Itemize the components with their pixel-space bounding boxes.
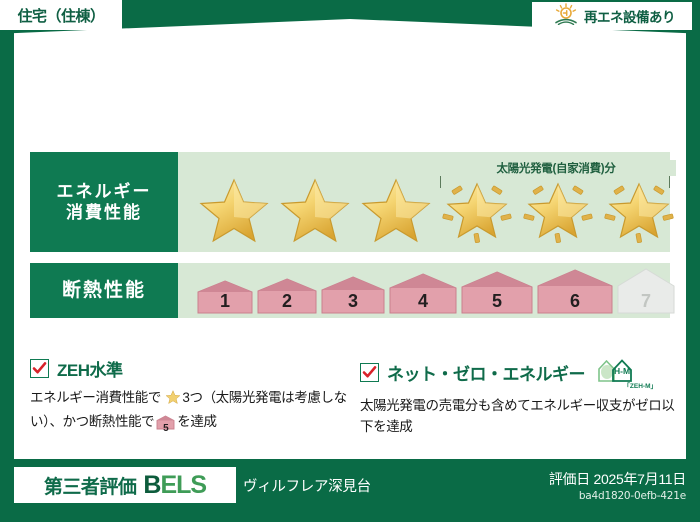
- renewable-equipment-tag: 再エネ設備あり: [532, 2, 692, 30]
- insulation-level-badge: 5: [460, 270, 534, 315]
- insulation-level-number: 4: [388, 291, 458, 312]
- criterion-nze-header: ネット・ゼロ・エネルギー H-M 「ZEH-M」: [360, 356, 680, 389]
- insulation-level-number: 5: [460, 291, 534, 312]
- energy-rating-body: 太陽光発電(自家消費)分: [178, 152, 670, 252]
- building-type-tag: 住宅（住棟）: [0, 0, 122, 30]
- criterion-zeh-description: エネルギー消費性能で 3つ（太陽光発電は考慮しない）、かつ断熱性能で 5 を達成: [30, 388, 350, 437]
- bels-letter-b: B: [143, 471, 160, 499]
- insulation-level-number: 2: [256, 291, 318, 312]
- star-icon: [162, 393, 181, 408]
- third-party-eval-label: 第三者評価: [44, 472, 137, 499]
- sun-solar-icon: [553, 3, 579, 30]
- energy-label-line2: 消費性能: [66, 202, 142, 223]
- solar-bracket-caption: 太陽光発電(自家消費)分: [436, 160, 676, 176]
- energy-label-line1: エネルギー: [57, 181, 152, 202]
- building-type-label: 住宅（住棟）: [17, 5, 104, 26]
- energy-performance-row: エネルギー 消費性能 太陽光発電(自家消費)分: [30, 152, 670, 252]
- insulation-level-number: 3: [320, 291, 386, 312]
- star-icon: [358, 172, 434, 248]
- insulation-performance-row: 断熱性能 1 2: [30, 263, 670, 318]
- building-name: ヴィルフレア深見台: [243, 475, 371, 496]
- star-icon: [196, 172, 272, 248]
- insulation-level-badge-inactive: 7: [616, 267, 676, 315]
- bels-wordmark: BELS: [143, 471, 206, 500]
- renewable-tag-label: 再エネ設備あり: [584, 6, 675, 26]
- insulation-level-number: 1: [196, 291, 254, 312]
- inline-level-number: 5: [156, 421, 175, 437]
- zeh-text-a: エネルギー消費性能で: [30, 390, 161, 405]
- zeh-m-logo-icon: H-M 「ZEH-M」: [595, 356, 637, 389]
- insulation-rating-body: 1 2 3: [178, 263, 670, 318]
- criterion-zeh-header: ZEH水準: [30, 356, 350, 381]
- criterion-zeh-title: ZEH水準: [57, 356, 123, 381]
- bels-letters-els: ELS: [160, 471, 206, 499]
- insulation-level-badge: 4: [388, 272, 458, 315]
- check-icon[interactable]: [30, 359, 49, 378]
- zeh-text-c: を達成: [177, 414, 216, 429]
- criterion-nze-title: ネット・ゼロ・エネルギー: [387, 360, 585, 385]
- insulation-level-badge: 3: [320, 275, 386, 315]
- criterion-zeh: ZEH水準 エネルギー消費性能で 3つ（太陽光発電は考慮しない）、かつ断熱性能で…: [30, 356, 350, 437]
- star-icon: [277, 172, 353, 248]
- criterion-net-zero-energy: ネット・ゼロ・エネルギー H-M 「ZEH-M」 太陽光発電の売電分も含めてエネ…: [360, 356, 680, 438]
- svg-text:H-M: H-M: [614, 366, 630, 376]
- insulation-level-inline-badge: 5: [156, 415, 175, 437]
- evaluation-id: ba4d1820-0efb-421e: [579, 490, 686, 502]
- bels-energy-label: 住宅（住棟） 再エネ設備あり 建築物省エネ法に基づく 省エネ性能ラベル ハウス: [0, 0, 700, 522]
- evaluation-date: 評価日 2025年7月11日: [549, 469, 686, 489]
- check-icon[interactable]: [360, 363, 379, 382]
- bels-certification-badge: 第三者評価 BELS: [14, 467, 236, 503]
- insulation-level-scale: 1 2 3: [196, 267, 676, 315]
- insulation-level-badge: 6: [536, 268, 614, 315]
- energy-performance-label: エネルギー 消費性能: [30, 152, 178, 252]
- zeh-m-logo-caption: 「ZEH-M」: [623, 380, 657, 390]
- insulation-level-badge: 1: [196, 279, 254, 315]
- insulation-level-number: 7: [616, 291, 676, 312]
- insulation-level-badge: 2: [256, 277, 318, 315]
- label-footer: 第三者評価 BELS ヴィルフレア深見台 評価日 2025年7月11日 ba4d…: [0, 459, 700, 522]
- solar-bracket: [440, 174, 670, 188]
- criterion-nze-description: 太陽光発電の売電分も含めてエネルギー収支がゼロ以下を達成: [360, 396, 680, 438]
- insulation-performance-label: 断熱性能: [30, 263, 178, 318]
- insulation-level-number: 6: [536, 291, 614, 312]
